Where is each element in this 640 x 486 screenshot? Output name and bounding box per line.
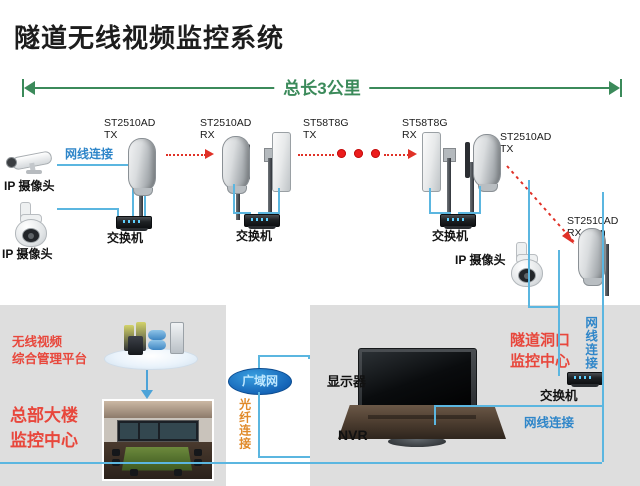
fiber-link-label: 光纤连接 (238, 398, 251, 450)
headquarters-center-label: 总部大楼监控中心 (10, 404, 78, 453)
diagram-canvas: 隧道无线视频监控系统 总长3公里 ST2510ADTX ST2510ADRX S… (0, 0, 640, 486)
lan-line (278, 188, 280, 214)
lan-line (528, 180, 530, 308)
lan-line (434, 405, 436, 425)
radio-unit-st58t8g-rx-1 (422, 132, 441, 192)
ip-camera-bullet (4, 150, 56, 176)
nvr-label: NVR (338, 428, 368, 444)
lan-line (429, 188, 431, 214)
tunnel-wireless-chain: ST2510ADTX ST2510ADRX ST58T8GTX ST58T8GR… (0, 104, 640, 294)
wireless-link-1 (166, 154, 206, 156)
span-label: 总长3公里 (274, 74, 369, 99)
ip-camera-label-2: IP 摄像头 (2, 248, 52, 261)
arrow-right-icon (609, 81, 620, 95)
switch-label-2: 交换机 (236, 230, 272, 243)
flow-arrow-head-icon (141, 390, 153, 399)
database-icon (148, 330, 166, 340)
radio-label-5: ST2510ADTX (500, 132, 551, 156)
monitor-label: 显示器 (327, 375, 366, 390)
switch-2 (244, 214, 280, 227)
ip-camera-label-3: IP 摄像头 (455, 254, 505, 267)
switch-3 (440, 214, 476, 227)
radio-bracket (465, 142, 470, 178)
server-cabinet-icon (170, 322, 184, 354)
wireless-arrow-2 (408, 149, 417, 159)
switch-label-3: 交换机 (432, 230, 468, 243)
flow-arrow-shaft (146, 370, 148, 392)
lan-line (434, 405, 602, 407)
tunnel-center-label: 隧道洞口监控中心 (510, 330, 570, 372)
span-cap-right (620, 79, 622, 97)
radio-unit-st2510ad-tx-2 (473, 134, 501, 188)
lan-line (233, 184, 235, 214)
wan-cloud-node: 广域网 (228, 368, 292, 395)
lan-line (479, 186, 481, 214)
platform-label: 无线视频综合管理平台 (12, 334, 87, 368)
ip-camera-label-1: IP 摄像头 (4, 180, 54, 193)
ip-camera-ptz-tunnel (508, 242, 546, 288)
server-rack-icon (128, 336, 143, 355)
lan-line (57, 208, 119, 210)
lan-link-label-3: 网线连接 (583, 316, 596, 370)
repeat-dot (354, 149, 363, 158)
fiber-line (258, 392, 260, 458)
radio-unit-st58t8g-tx-1 (272, 132, 291, 192)
lan-line-wan-return (0, 462, 602, 464)
database-icon (148, 340, 166, 350)
lan-line (602, 192, 604, 462)
switch-1 (116, 216, 152, 229)
repeat-dot (337, 149, 346, 158)
repeat-dot (371, 149, 380, 158)
ip-camera-ptz (12, 202, 50, 248)
lan-link-label-1: 网线连接 (65, 148, 113, 161)
switch-label-4: 交换机 (540, 389, 578, 403)
lan-line (558, 250, 560, 376)
total-length-arrow: 总长3公里 (22, 75, 622, 101)
video-wall (117, 420, 199, 442)
switch-label-1: 交换机 (107, 232, 143, 245)
wan-label: 广域网 (229, 369, 291, 394)
wireless-arrow-1 (205, 149, 214, 159)
headquarters-control-room-photo (102, 399, 214, 481)
radio-unit-st2510ad-rx-1 (222, 136, 250, 190)
radio-pole (447, 158, 451, 218)
page-title: 隧道无线视频监控系统 (14, 18, 284, 55)
wan-line-top-h (258, 355, 310, 357)
switch-4 (567, 372, 603, 385)
lan-line (528, 306, 560, 308)
lan-link-label-2: 网线连接 (524, 416, 574, 430)
wireless-link-2a (298, 154, 334, 156)
wireless-link-2b (384, 154, 409, 156)
radio-label-3: ST58T8GTX (303, 118, 349, 142)
radio-unit-st2510ad-tx-1 (128, 138, 156, 192)
fiber-line-h (258, 456, 310, 458)
